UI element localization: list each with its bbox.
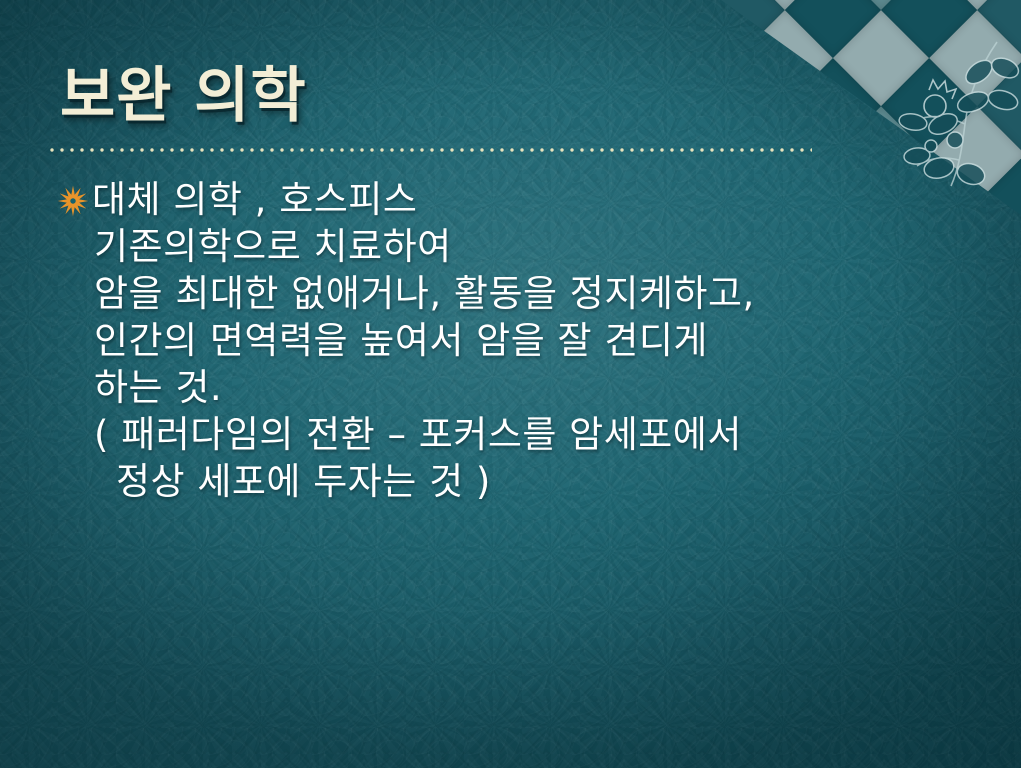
body-line-6: ( 패러다임의 전환 – 포커스를 암세포에서 [92,411,991,458]
body-line-2: 기존의학으로 치료하여 [92,223,991,270]
diamond-tile [721,10,737,106]
body-line-4: 인간의 면역력을 높여서 암을 잘 견디게 [92,317,991,364]
bullet-row: 대체 의학 , 호스피스 기존의학으로 치료하여 암을 최대한 없애거나, 활동… [56,176,991,505]
body-line-1: 대체 의학 , 호스피스 [92,176,991,223]
slide-canvas: 보완 의학 [0,0,1021,768]
body-line-7: 정상 세포에 두자는 것 ) [92,458,991,505]
title-dotted-divider [47,148,812,152]
diamond-tile [721,58,785,154]
body-text-lines: 대체 의학 , 호스피스 기존의학으로 치료하여 암을 최대한 없애거나, 활동… [92,176,991,505]
slide-title: 보완 의학 [60,47,307,134]
starburst-flower-icon [56,184,90,218]
body-line-3: 암을 최대한 없애거나, 활동을 정지케하고, [92,270,991,317]
body-line-5: 하는 것. [92,364,991,411]
slide-body: 대체 의학 , 호스피스 기존의학으로 치료하여 암을 최대한 없애거나, 활동… [56,176,991,505]
